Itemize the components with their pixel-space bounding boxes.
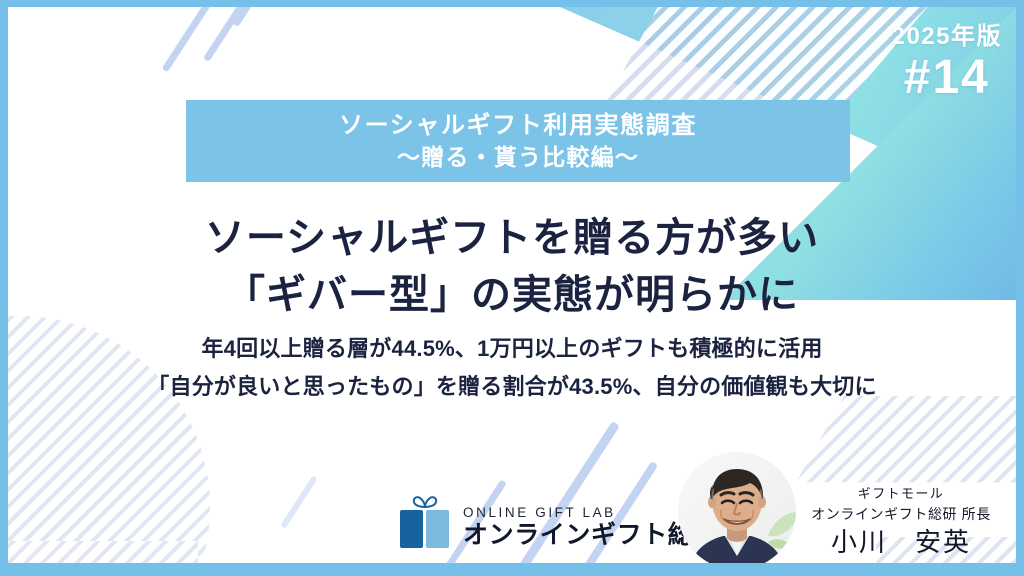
person-credit: ギフトモール オンラインギフト総研 所長 小川 安英 <box>798 485 1004 558</box>
diagonal-line-decoration <box>162 0 218 72</box>
headline: ソーシャルギフトを贈る方が多い 「ギバー型」の実態が明らかに <box>0 210 1024 324</box>
gift-box-icon <box>400 496 450 548</box>
portrait-photo <box>678 452 796 570</box>
issue-year-label: 2025年版 <box>892 24 1002 50</box>
diagonal-line-decoration <box>280 475 318 529</box>
gift-box-left-panel <box>400 510 423 548</box>
portrait-illustration <box>678 452 796 570</box>
person-org-line-2: オンラインギフト総研 所長 <box>798 504 1004 524</box>
banner-title: ソーシャルギフト利用実態調査 <box>339 111 697 141</box>
subcopy: 年4回以上贈る層が44.5%、1万円以上のギフトも積極的に活用 「自分が良いと思… <box>0 330 1024 406</box>
person-name: 小川 安英 <box>798 526 1004 559</box>
issue-number-label: #14 <box>892 52 1002 105</box>
survey-title-banner: ソーシャルギフト利用実態調査 〜贈る・貰う比較編〜 <box>186 100 850 182</box>
frame-border-right <box>1016 0 1024 576</box>
headline-line-1: ソーシャルギフトを贈る方が多い <box>0 210 1024 267</box>
frame-border-bottom <box>0 563 1024 576</box>
slide-canvas: 2025年版 #14 ソーシャルギフト利用実態調査 〜贈る・貰う比較編〜 ソーシ… <box>0 0 1024 576</box>
gift-box-right-panel <box>426 510 449 548</box>
subcopy-line-2: 「自分が良いと思ったもの」を贈る割合が43.5%、自分の価値観も大切に <box>0 368 1024 406</box>
person-org-line-1: ギフトモール <box>798 485 1004 504</box>
headline-line-2: 「ギバー型」の実態が明らかに <box>0 267 1024 324</box>
frame-border-left <box>0 0 8 576</box>
striped-block-decoration <box>8 541 198 563</box>
issue-badge: 2025年版 #14 <box>892 24 1002 105</box>
frame-border-top <box>0 0 1024 7</box>
subcopy-line-1: 年4回以上贈る層が44.5%、1万円以上のギフトも積極的に活用 <box>0 330 1024 368</box>
ribbon-bow-icon <box>412 496 438 508</box>
banner-subtitle: 〜贈る・貰う比較編〜 <box>397 143 639 172</box>
brand-logo: ONLINE GIFT LAB オンラインギフト総研 <box>400 496 719 548</box>
